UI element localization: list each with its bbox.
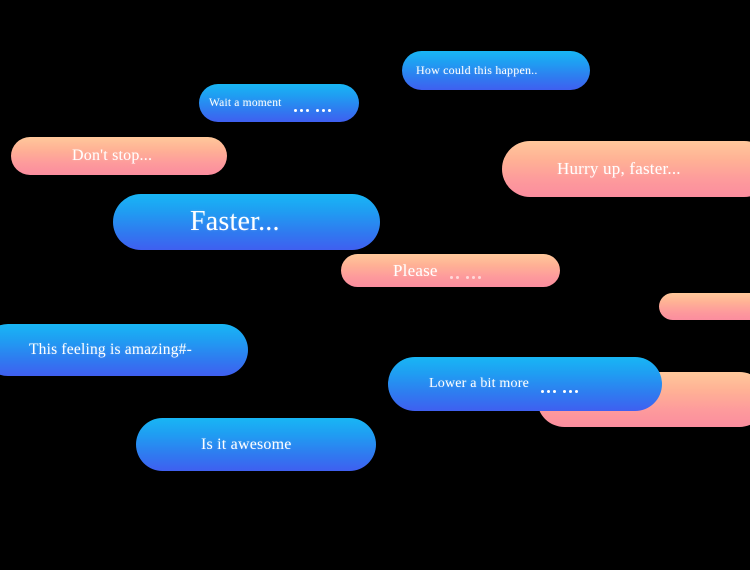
bubble-label: This feeling is amazing#- (29, 341, 192, 359)
bubble-label: Wait a moment (209, 97, 282, 109)
typing-dots-icon (541, 390, 578, 393)
message-bubble-wait-a-moment[interactable]: Wait a moment (199, 84, 359, 122)
message-bubble-faster[interactable]: Faster... (113, 194, 380, 250)
bubble-label: Please (393, 261, 438, 281)
message-bubble-lower-a-bit-more[interactable]: Lower a bit more (388, 357, 662, 411)
message-bubble-canvas: Wait a moment How could this happen.. Do… (0, 0, 750, 570)
bubble-label: Lower a bit more (429, 376, 529, 392)
bubble-label: How could this happen.. (416, 63, 538, 78)
message-bubble-please[interactable]: Please (341, 254, 560, 287)
bubble-label: Don't stop... (72, 147, 152, 165)
message-bubble-this-feeling-is-amazing[interactable]: This feeling is amazing#- (0, 324, 248, 376)
message-bubble-dont-stop[interactable]: Don't stop... (11, 137, 227, 175)
typing-dots-icon (294, 109, 331, 112)
bubble-label: Is it awesome (201, 436, 292, 454)
message-bubble-is-it-awesome[interactable]: Is it awesome (136, 418, 376, 471)
message-bubble-how-could-this-happen[interactable]: How could this happen.. (402, 51, 590, 90)
typing-dots-icon (450, 276, 481, 279)
message-bubble-offscreen-right-upper[interactable] (659, 293, 750, 320)
message-bubble-hurry-up-faster[interactable]: Hurry up, faster... (502, 141, 750, 197)
bubble-label: Hurry up, faster... (557, 159, 681, 179)
bubble-label: Faster... (190, 206, 280, 238)
